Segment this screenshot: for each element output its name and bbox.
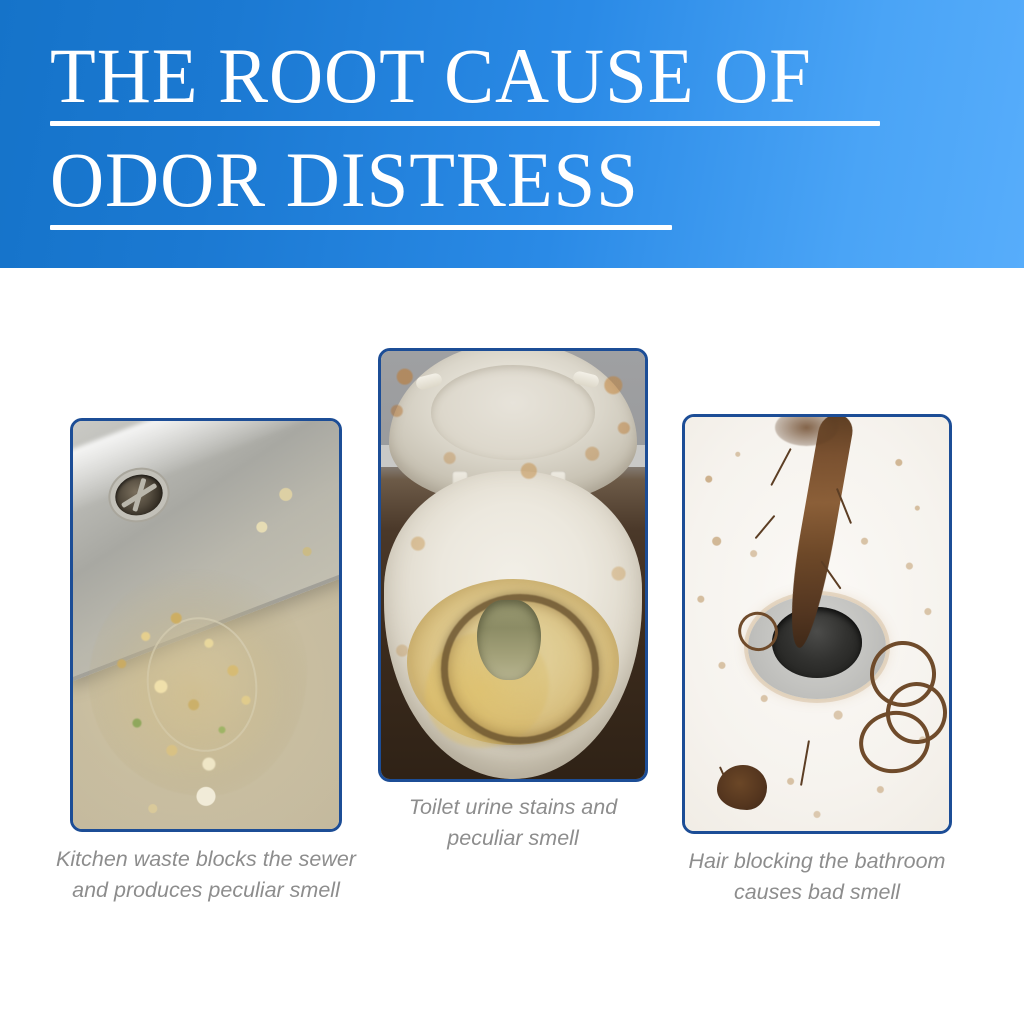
title-underline-2 bbox=[50, 225, 672, 230]
caption-kitchen-sink: Kitchen waste blocks the sewer and produ… bbox=[54, 844, 358, 906]
page-title-line-2: ODOR DISTRESS bbox=[50, 138, 933, 222]
page-title-line-1: THE ROOT CAUSE OF bbox=[50, 34, 933, 118]
title-block: THE ROOT CAUSE OF ODOR DISTRESS bbox=[50, 34, 970, 230]
card-hair-drain[interactable] bbox=[682, 414, 952, 834]
header-banner: THE ROOT CAUSE OF ODOR DISTRESS bbox=[0, 0, 1024, 268]
photo-toilet bbox=[381, 351, 645, 779]
sink-food-bits bbox=[73, 421, 339, 829]
hair-clump-bottom bbox=[717, 765, 767, 811]
caption-toilet: Toilet urine stains and peculiar smell bbox=[380, 792, 646, 854]
title-underline-1 bbox=[50, 121, 880, 126]
content-area: Kitchen waste blocks the sewer and produ… bbox=[0, 268, 1024, 1024]
card-toilet[interactable] bbox=[378, 348, 648, 782]
drain-hole bbox=[772, 607, 862, 677]
card-kitchen-sink[interactable] bbox=[70, 418, 342, 832]
photo-kitchen-sink bbox=[73, 421, 339, 829]
toilet-rust-spots bbox=[381, 351, 645, 779]
photo-hair-drain bbox=[685, 417, 949, 831]
caption-hair-drain: Hair blocking the bathroom causes bad sm… bbox=[668, 846, 966, 908]
